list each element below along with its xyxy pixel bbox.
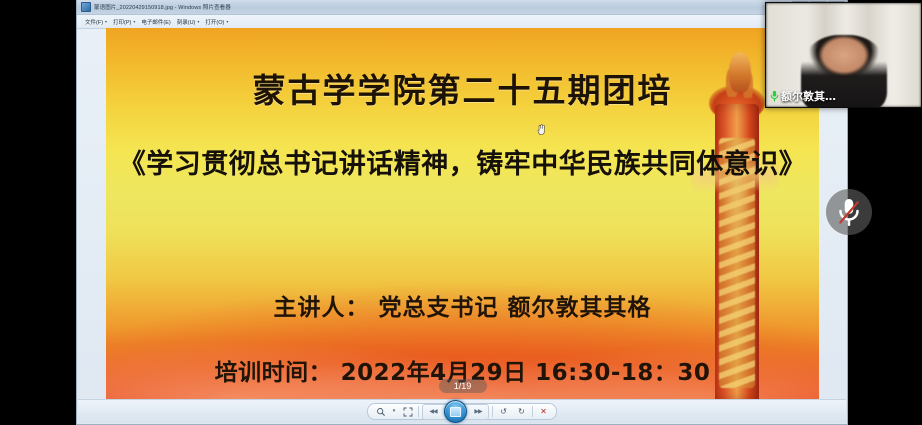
fit-to-window-icon[interactable]: [400, 405, 415, 418]
window-titlebar[interactable]: 蒙语图片_20220429150918.jpg - Windows 照片查看器 …: [77, 0, 847, 15]
rotate-counterclockwise-icon[interactable]: ↺: [496, 405, 511, 418]
delete-icon[interactable]: ✕: [536, 405, 551, 418]
participant-name: 额尔敦其…: [781, 88, 836, 104]
window-title: 蒙语图片_20220429150918.jpg - Windows 照片查看器: [94, 3, 231, 11]
navigation-controls: ◀◀ ▶▶: [422, 404, 489, 420]
zoom-icon[interactable]: [373, 405, 388, 418]
fit-glyph: [403, 407, 413, 417]
photo-viewer-toolbar: ▾ ◀◀ ▶▶ ↺ ↻ ✕: [78, 399, 846, 423]
next-image-button[interactable]: ▶▶: [470, 406, 486, 417]
menu-item-print-label: 打印(P): [113, 18, 131, 26]
chevron-down-icon: ▾: [226, 19, 228, 24]
menu-item-open-label: 打开(O): [205, 18, 224, 26]
slide-subtitle: 《学习贯彻总书记讲话精神，铸牢中华民族共同体意识》: [106, 142, 819, 181]
slide-speaker: 主讲人： 党总支书记 额尔敦其其格: [106, 288, 819, 322]
microphone-icon: [770, 90, 779, 102]
participant-label: 额尔敦其…: [770, 88, 836, 104]
menu-item-file-label: 文件(F): [85, 18, 103, 26]
menu-item-burn[interactable]: 刻录(U) ▾: [174, 17, 203, 27]
chevron-down-icon: ▾: [105, 19, 107, 24]
microphone-muted-icon: [836, 197, 862, 227]
menu-item-print[interactable]: 打印(P) ▾: [110, 17, 138, 27]
menu-item-burn-label: 刻录(U): [177, 18, 196, 26]
toolbar-button-group: ▾ ◀◀ ▶▶ ↺ ↻ ✕: [367, 403, 557, 420]
microphone-mute-button[interactable]: [826, 189, 872, 235]
participant-video-tile[interactable]: 额尔敦其…: [765, 2, 922, 108]
photo-viewer-icon: [81, 2, 91, 12]
slideshow-glyph: [450, 407, 461, 417]
slide-title: 蒙古学学院第二十五期团培: [106, 64, 819, 112]
menu-item-email-label: 电子邮件(E): [141, 18, 170, 26]
menu-bar: 文件(F) ▾ 打印(P) ▾ 电子邮件(E) 刻录(U) ▾ 打开(O) ▾: [77, 15, 847, 29]
chevron-down-icon: ▾: [197, 19, 199, 24]
chevron-down-icon: ▾: [133, 19, 135, 24]
toolbar-separator: [492, 406, 493, 417]
menu-item-file[interactable]: 文件(F) ▾: [82, 17, 110, 27]
screen-share-canvas: 蒙语图片_20220429150918.jpg - Windows 照片查看器 …: [0, 0, 922, 425]
menu-item-open[interactable]: 打开(O) ▾: [202, 17, 231, 27]
magnifier-glyph: [376, 407, 386, 417]
toolbar-separator: [532, 406, 533, 417]
windows-photo-viewer-window: 蒙语图片_20220429150918.jpg - Windows 照片查看器 …: [76, 0, 848, 425]
toolbar-separator: [418, 406, 419, 417]
previous-image-button[interactable]: ◀◀: [425, 406, 441, 417]
page-indicator: 1/19: [439, 379, 487, 393]
rotate-clockwise-icon[interactable]: ↻: [514, 405, 529, 418]
menu-item-email[interactable]: 电子邮件(E): [138, 17, 173, 27]
slide-image[interactable]: 蒙古学学院第二十五期团培 《学习贯彻总书记讲话精神，铸牢中华民族共同体意识》 主…: [106, 28, 819, 400]
pan-hand-cursor: [537, 124, 546, 136]
zoom-dropdown-caret[interactable]: ▾: [391, 405, 397, 418]
play-slideshow-button[interactable]: [444, 400, 467, 423]
